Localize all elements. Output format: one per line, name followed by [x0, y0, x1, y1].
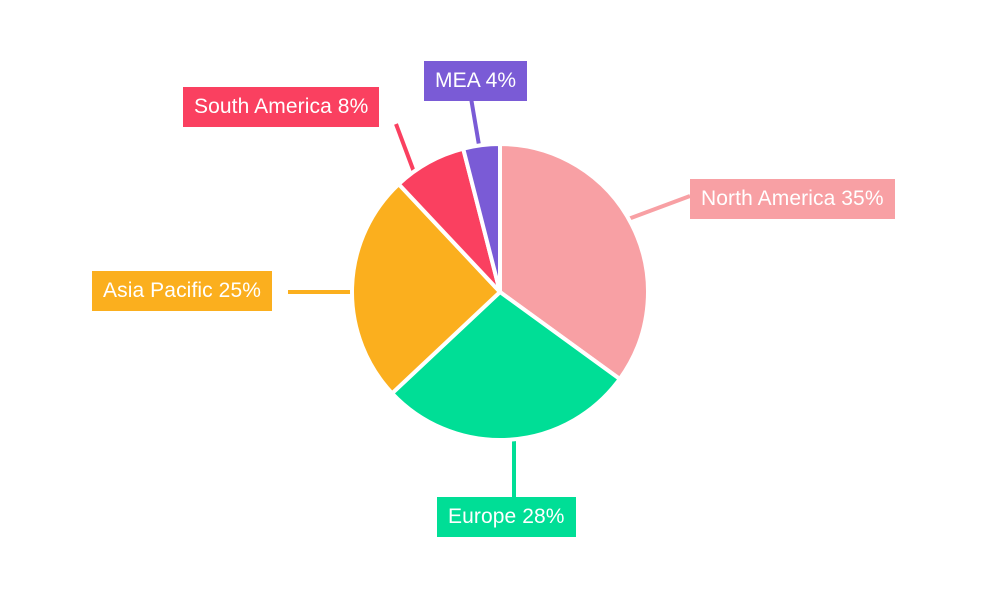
slice-label-north-america[interactable]: North America 35% — [690, 179, 895, 219]
slice-label-text: South America 8% — [194, 96, 368, 117]
slice-label-text: MEA 4% — [435, 70, 516, 91]
slice-label-text: Asia Pacific 25% — [103, 280, 261, 301]
pie-wedge-layer — [352, 144, 648, 440]
slice-label-south-america[interactable]: South America 8% — [183, 87, 379, 127]
slice-label-text: Europe 28% — [448, 506, 565, 527]
slice-label-text: North America 35% — [701, 188, 884, 209]
slice-label-europe[interactable]: Europe 28% — [437, 497, 576, 537]
slice-label-mea[interactable]: MEA 4% — [424, 61, 527, 101]
slice-label-asia-pacific[interactable]: Asia Pacific 25% — [92, 271, 272, 311]
pie-chart-figure: North America 35% Europe 28% Asia Pacifi… — [0, 0, 1000, 600]
